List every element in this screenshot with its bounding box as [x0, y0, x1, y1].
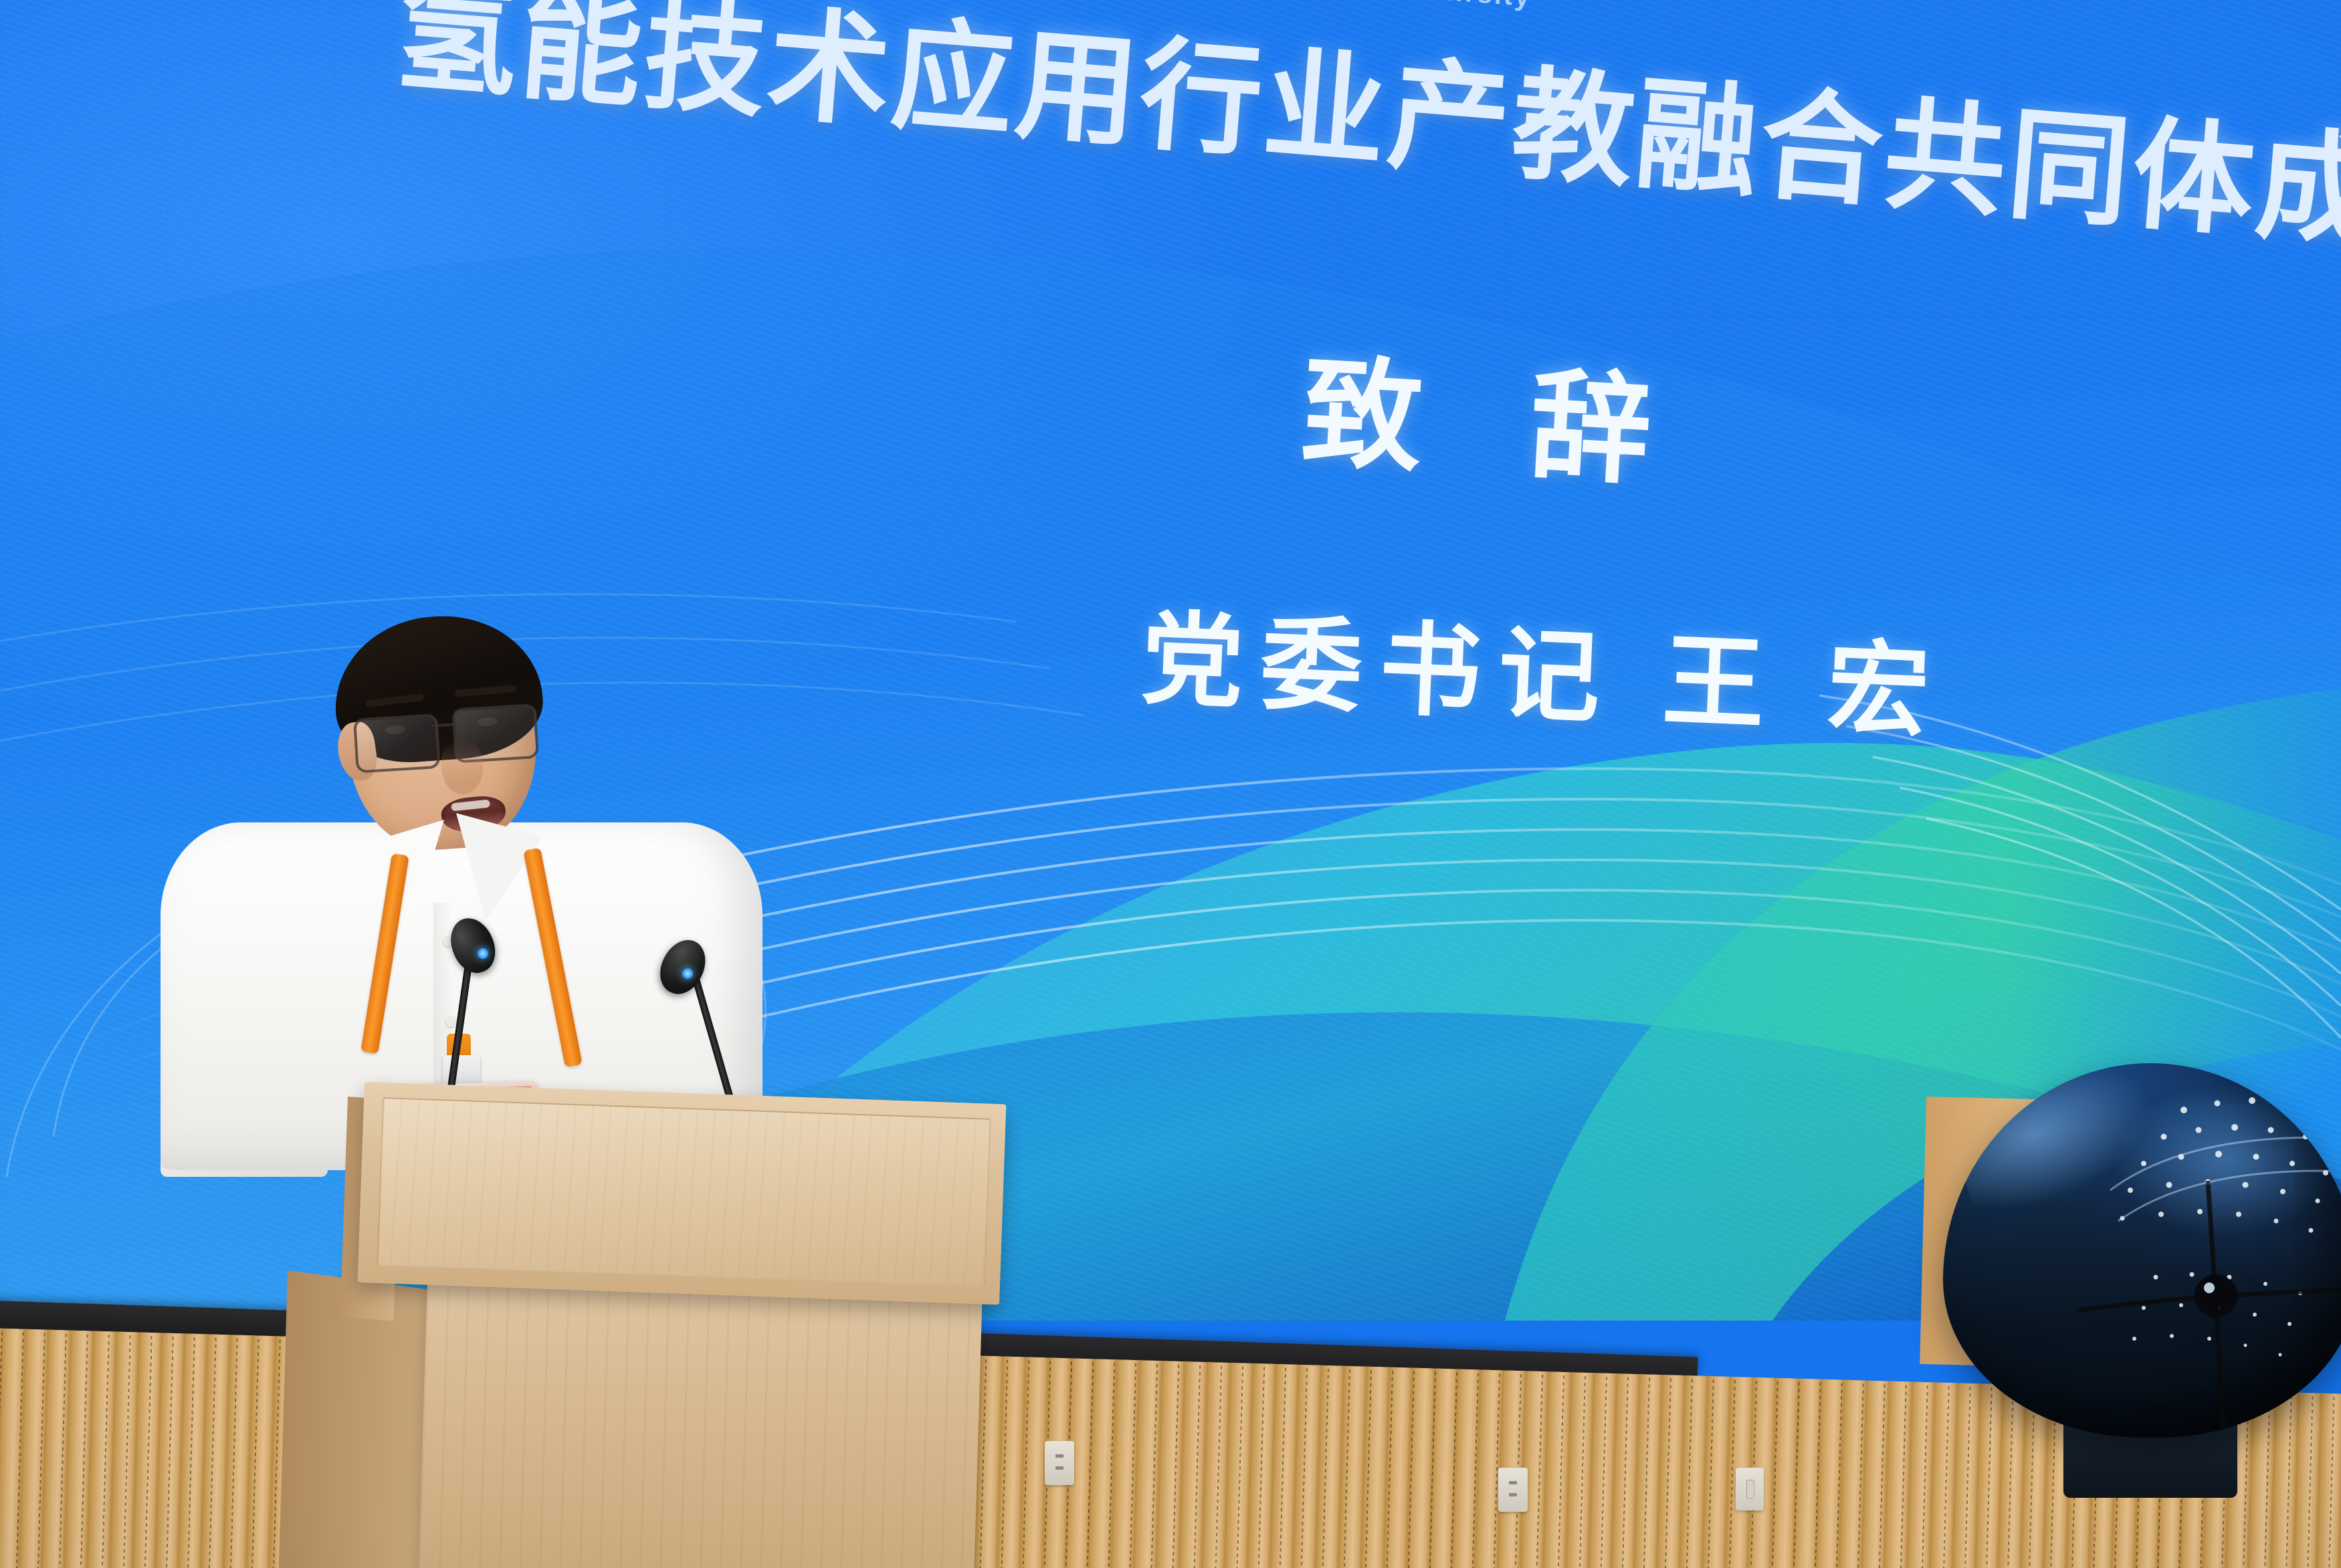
- light-switch: [1736, 1468, 1764, 1510]
- shirt-button: [445, 1016, 456, 1027]
- power-outlet: [1045, 1441, 1074, 1485]
- speaker-title-name: 党委书记 王 宏: [1139, 576, 1950, 757]
- mic-status-led: [682, 968, 693, 979]
- event-main-title: 氢能技术应用行业产教融合共同体成立大会: [391, 0, 2148, 235]
- speaker-person: 中国石油大学 氢能技术应用行业产教融合共同体成立大会 暨氢能技术应用专业教学资源…: [221, 622, 702, 1130]
- event-subtitle: 致 辞: [1298, 314, 1694, 510]
- photo-scene: ...rsity 氢能技术应用行业产教融合共同体成立大会 致 辞 党委书记 王 …: [0, 0, 2341, 1568]
- podium-body: [419, 1257, 983, 1568]
- power-outlet: [1498, 1468, 1528, 1512]
- lens-left: [353, 713, 441, 774]
- podium-front-panel: [358, 1082, 1007, 1305]
- podium-panel-inset: [377, 1097, 991, 1287]
- mic-status-led: [478, 948, 488, 959]
- organization-english-text: ...rsity: [1436, 0, 1533, 13]
- glossy-dark-sphere: [1943, 1063, 2341, 1438]
- sphere-light-reflections: [1943, 1063, 2341, 1438]
